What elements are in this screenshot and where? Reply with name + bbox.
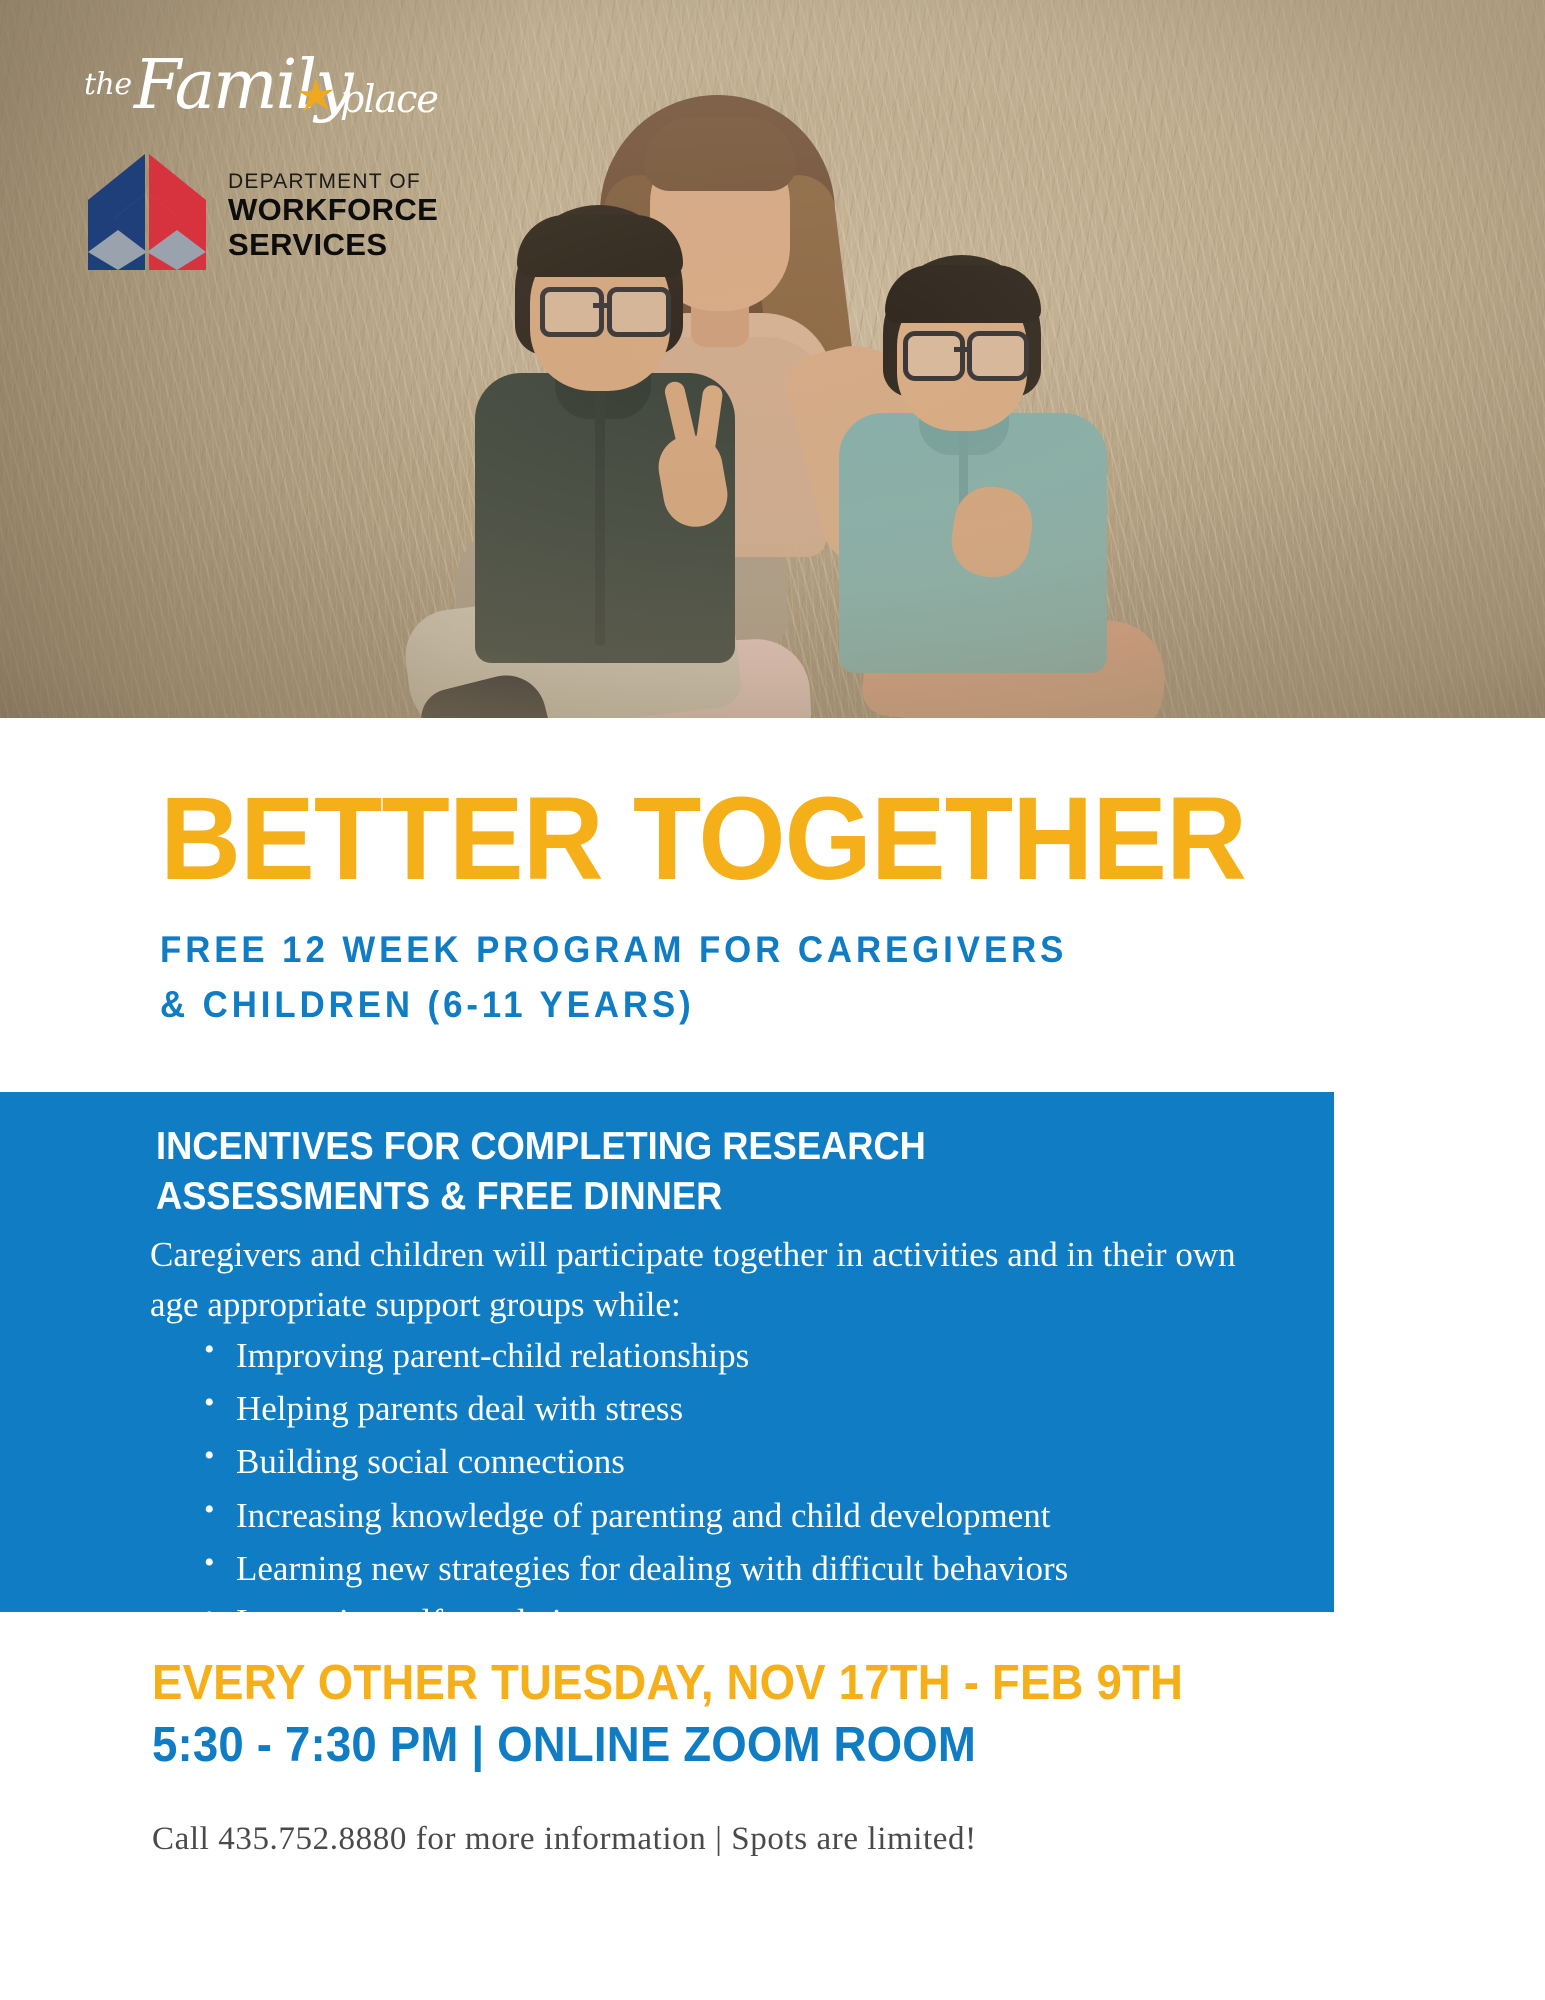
the-family-place-logo: the Family place [82, 62, 452, 132]
list-item-label: Building social connections [236, 1442, 625, 1481]
incentives-panel-title-line-2: ASSESSMENTS & FREE DINNER [156, 1172, 1086, 1222]
star-icon [295, 76, 337, 118]
list-item-label: Learning new strategies for dealing with… [236, 1549, 1068, 1588]
hero-photo: the Family place [0, 0, 1545, 718]
page-title: BETTER TOGETHER [160, 780, 1246, 898]
incentives-panel: INCENTIVES FOR COMPLETING RESEARCH ASSES… [0, 1092, 1334, 1612]
dws-logo: DEPARTMENT OF WORKFORCE SERVICES [88, 148, 488, 273]
list-item: •Building social connections [202, 1435, 1342, 1488]
page-subtitle-line-1: FREE 12 WEEK PROGRAM FOR CAREGIVERS [160, 923, 1288, 978]
bullet-icon: • [204, 1487, 215, 1533]
list-item-label: Improving parent-child relationships [236, 1336, 749, 1375]
bullet-icon: • [204, 1380, 215, 1426]
dws-services-label: SERVICES [228, 228, 488, 263]
list-item: •Improving parent-child relationships [202, 1329, 1342, 1382]
dws-chevron-mark-icon [88, 148, 210, 270]
list-item: •Helping parents deal with stress [202, 1382, 1342, 1435]
dws-department-of-label: DEPARTMENT OF [228, 170, 421, 193]
event-schedule: EVERY OTHER TUESDAY, NOV 17TH - FEB 9TH [152, 1656, 1183, 1712]
contact-call-to-action: Call 435.752.8880 for more information |… [152, 1818, 977, 1861]
list-item: •Increasing knowledge of parenting and c… [202, 1489, 1342, 1542]
benefits-list: •Improving parent-child relationships •H… [150, 1329, 1342, 1648]
page-subtitle-line-2: & CHILDREN (6-11 YEARS) [160, 978, 1288, 1033]
page-subtitle: FREE 12 WEEK PROGRAM FOR CAREGIVERS & CH… [160, 923, 1288, 1033]
list-item-label: Increasing knowledge of parenting and ch… [236, 1496, 1050, 1535]
incentives-panel-intro: Caregivers and children will participate… [150, 1230, 1280, 1329]
event-info-section: EVERY OTHER TUESDAY, NOV 17TH - FEB 9TH … [0, 1612, 1545, 2000]
logo-place-text: place [340, 80, 438, 118]
bullet-icon: • [204, 1433, 215, 1479]
bullet-icon: • [204, 1327, 215, 1373]
list-item-label: Helping parents deal with stress [236, 1389, 683, 1428]
bullet-icon: • [204, 1540, 215, 1586]
incentives-panel-title-line-1: INCENTIVES FOR COMPLETING RESEARCH [156, 1122, 1086, 1172]
event-time-location: 5:30 - 7:30 PM | ONLINE ZOOM ROOM [152, 1718, 976, 1774]
headline-section: BETTER TOGETHER FREE 12 WEEK PROGRAM FOR… [0, 718, 1545, 1073]
dws-logo-text: DEPARTMENT OF WORKFORCE SERVICES [228, 170, 488, 263]
flyer-page: the Family place [0, 0, 1545, 2000]
dws-workforce-label: WORKFORCE [228, 193, 488, 228]
list-item: •Learning new strategies for dealing wit… [202, 1542, 1342, 1595]
logo-the-text: the [84, 70, 132, 100]
incentives-panel-title: INCENTIVES FOR COMPLETING RESEARCH ASSES… [156, 1122, 1086, 1222]
